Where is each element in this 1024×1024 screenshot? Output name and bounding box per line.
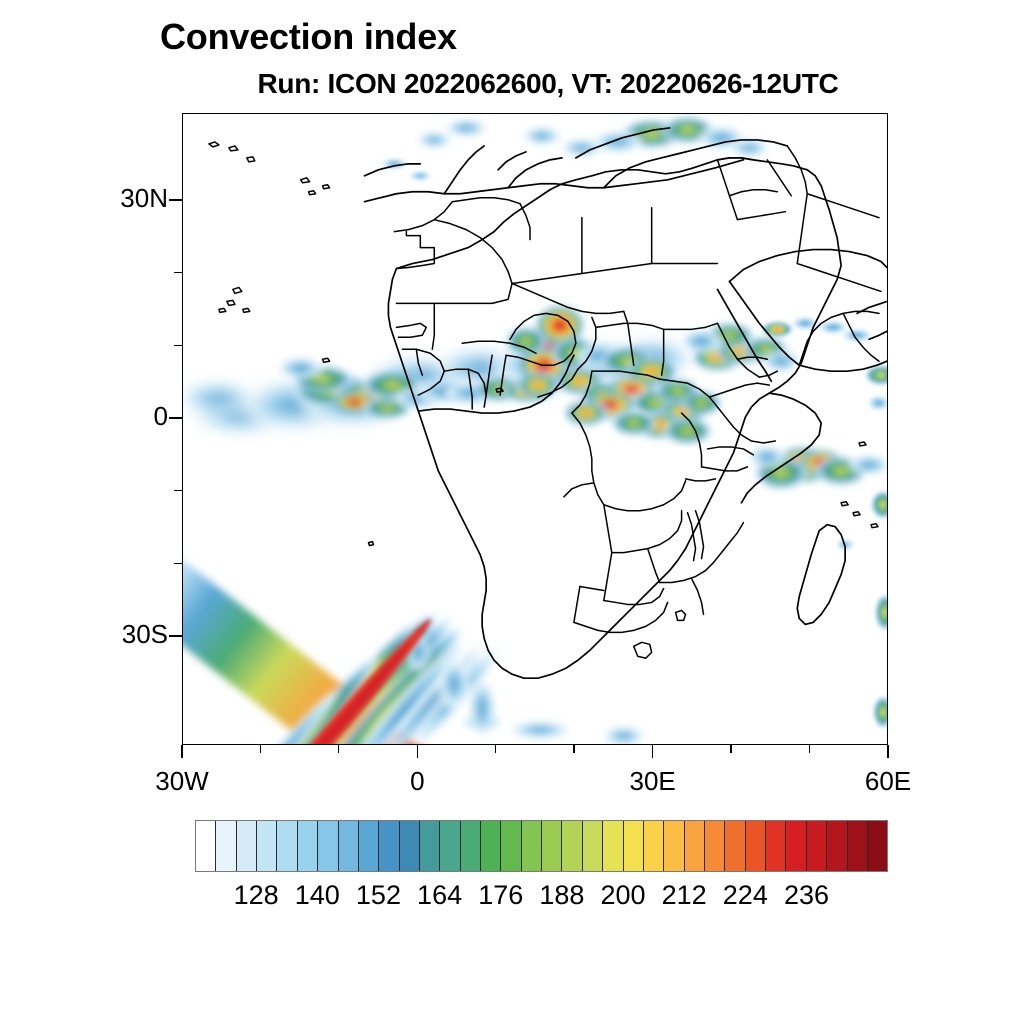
colorbar-cell — [339, 821, 359, 871]
x-tick — [260, 745, 261, 753]
colorbar-cell — [481, 821, 501, 871]
y-tick — [169, 635, 182, 637]
colorbar-cell — [501, 821, 521, 871]
colorbar-cell — [318, 821, 338, 871]
y-tick-label: 30S — [48, 619, 168, 650]
colorbar-tick-labels: 128140152164176188200212224236 — [0, 880, 1024, 920]
colorbar-cell — [257, 821, 277, 871]
colorbar-cell — [807, 821, 827, 871]
colorbar-cell — [216, 821, 236, 871]
colorbar-cell — [562, 821, 582, 871]
colorbar-tick-label: 236 — [746, 880, 866, 911]
colorbar-cell — [379, 821, 399, 871]
colorbar-cell — [746, 821, 766, 871]
colorbar-cell — [461, 821, 481, 871]
x-tick — [495, 745, 496, 753]
colorbar-cell — [359, 821, 379, 871]
x-tick — [181, 745, 183, 758]
colorbar-cell — [705, 821, 725, 871]
x-tick — [338, 745, 339, 753]
colorbar-cell — [786, 821, 806, 871]
colorbar-cell — [868, 821, 887, 871]
page-title: Convection index — [160, 16, 457, 58]
x-tick-label: 60E — [823, 766, 953, 797]
colorbar-cell — [440, 821, 460, 871]
colorbar-cell — [725, 821, 745, 871]
y-tick-label: 30N — [48, 183, 168, 214]
y-tick — [174, 272, 182, 273]
x-tick — [573, 745, 574, 753]
y-tick — [174, 345, 182, 346]
colorbar-cell — [237, 821, 257, 871]
colorbar-cell — [400, 821, 420, 871]
colorbar-cell — [522, 821, 542, 871]
x-tick — [887, 745, 889, 758]
map-plot-area[interactable] — [182, 113, 888, 745]
x-tick-label: 30E — [588, 766, 718, 797]
x-tick — [730, 745, 731, 753]
y-tick — [174, 490, 182, 491]
colorbar-cell — [196, 821, 216, 871]
y-tick — [174, 563, 182, 564]
colorbar-cell — [848, 821, 868, 871]
colorbar[interactable] — [195, 820, 888, 872]
colorbar-cell — [827, 821, 847, 871]
colorbar-cell — [624, 821, 644, 871]
y-tick — [169, 199, 182, 201]
y-tick — [169, 417, 182, 419]
colorbar-cell — [603, 821, 623, 871]
colorbar-cell — [583, 821, 603, 871]
colorbar-cell — [644, 821, 664, 871]
y-axis-labels: 30N030S — [38, 0, 168, 1024]
x-tick-label: 0 — [352, 766, 482, 797]
colorbar-cell — [664, 821, 684, 871]
colorbar-cell — [277, 821, 297, 871]
convection-index-map — [183, 114, 887, 744]
colorbar-cell — [420, 821, 440, 871]
x-tick — [652, 745, 654, 758]
y-tick-label: 0 — [48, 401, 168, 432]
x-tick — [417, 745, 419, 758]
colorbar-cell — [685, 821, 705, 871]
colorbar-cell — [766, 821, 786, 871]
colorbar-cell — [542, 821, 562, 871]
colorbar-gradient — [195, 820, 888, 872]
x-tick — [809, 745, 810, 753]
colorbar-cell — [298, 821, 318, 871]
x-tick-label: 30W — [117, 766, 247, 797]
